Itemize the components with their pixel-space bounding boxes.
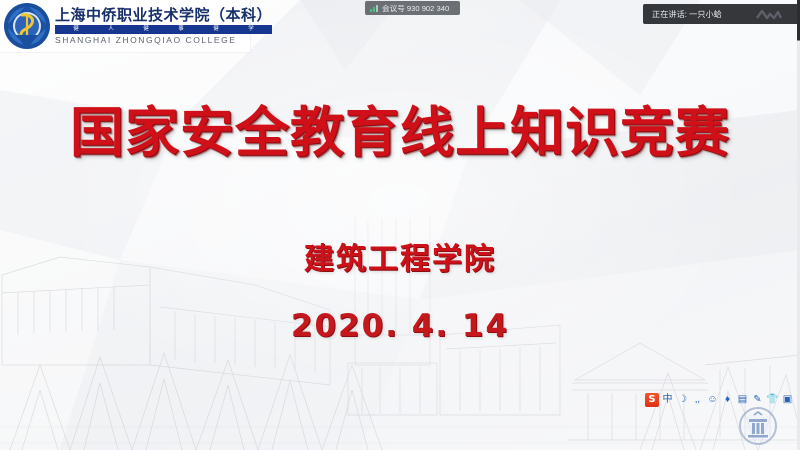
audio-wave-icon <box>756 9 782 20</box>
meeting-id-label: 会议号 930 902 340 <box>382 3 449 13</box>
shanghai-zhongqiao-college-emblem-icon <box>2 1 52 51</box>
sogou-ime-toolbar[interactable]: S 中 ☽ ‚, ☺ ♦ ▤ ✎ 👕 ▣ <box>643 391 796 408</box>
motto-char: 学 <box>248 26 254 32</box>
active-speaker-label: 正在讲话: 一只小蛤 <box>652 8 722 20</box>
voice-input-icon[interactable]: ♦ <box>721 392 734 407</box>
college-name-cn: 上海中侨职业技术学院（本科） <box>55 8 272 23</box>
slide-subtitle: 建筑工程学院 <box>0 234 800 278</box>
chinese-english-toggle-icon[interactable]: 中 <box>661 392 674 407</box>
meeting-id-badge[interactable]: 会议号 930 902 340 <box>365 1 460 15</box>
university-crest-watermark-icon <box>738 406 778 446</box>
signal-bars-icon <box>370 4 378 12</box>
presentation-slide-screenshare: 上海中侨职业技术学院（本科） 健 人 健 事 健 学 SHANGHAI ZHON… <box>0 0 800 450</box>
sogou-logo-icon[interactable]: S <box>645 393 659 407</box>
handwriting-icon[interactable]: ✎ <box>751 392 764 407</box>
slide-main-title: 国家安全教育线上知识竞赛 <box>0 88 800 167</box>
college-name-en: SHANGHAI ZHONGQIAO COLLEGE <box>55 36 272 45</box>
motto-char: 人 <box>108 26 114 32</box>
college-logo-plate: 上海中侨职业技术学院（本科） 健 人 健 事 健 学 SHANGHAI ZHON… <box>0 0 250 52</box>
college-motto-bar: 健 人 健 事 健 学 <box>55 25 272 34</box>
toolbox-icon[interactable]: ▣ <box>781 392 794 407</box>
emoji-icon[interactable]: ☺ <box>706 392 719 407</box>
college-name-block: 上海中侨职业技术学院（本科） 健 人 健 事 健 学 SHANGHAI ZHON… <box>55 8 272 45</box>
motto-char: 健 <box>74 26 80 32</box>
motto-char: 健 <box>213 26 219 32</box>
slide-date: 2020. 4. 14 <box>0 308 800 344</box>
moon-mode-icon[interactable]: ☽ <box>676 392 689 407</box>
skin-theme-icon[interactable]: 👕 <box>766 392 779 407</box>
active-speaker-badge[interactable]: 正在讲话: 一只小蛤 <box>643 4 798 24</box>
motto-char: 事 <box>178 26 184 32</box>
soft-keyboard-icon[interactable]: ▤ <box>736 392 749 407</box>
punctuation-toggle-icon[interactable]: ‚, <box>691 392 704 407</box>
motto-char: 健 <box>143 26 149 32</box>
